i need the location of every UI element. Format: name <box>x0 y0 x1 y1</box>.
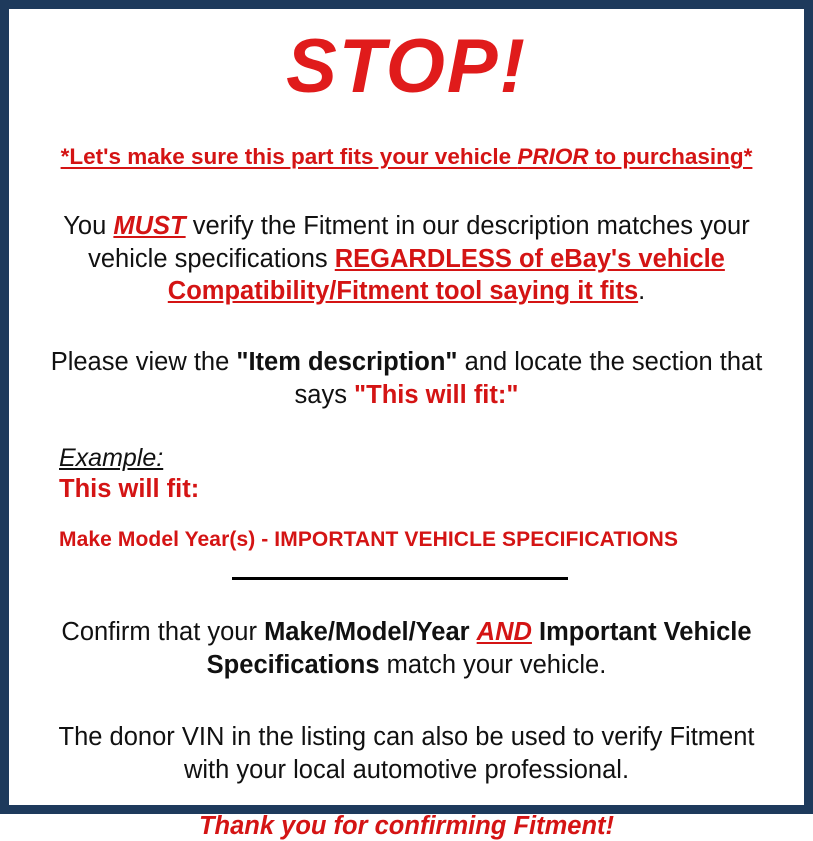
notice-content: STOP! *Let's make sure this part fits yo… <box>9 9 804 805</box>
tagline: *Let's make sure this part fits your veh… <box>18 143 795 170</box>
paragraph-must-verify: You MUST verify the Fitment in our descr… <box>18 210 795 308</box>
tagline-tail: to purchasing* <box>589 144 753 169</box>
example-label-row: Example: <box>59 445 795 473</box>
divider-wrap <box>18 577 795 580</box>
must-part3: . <box>638 277 645 305</box>
confirm-bold-make-model-year: Make/Model/Year <box>264 618 470 646</box>
example-label: Example: <box>59 445 163 473</box>
confirm-part2: match your vehicle. <box>380 651 607 679</box>
example-spec-line: Make Model Year(s) - IMPORTANT VEHICLE S… <box>59 528 795 551</box>
must-emphasis: MUST <box>113 212 185 240</box>
view-red-this-will-fit: "This will fit:" <box>354 381 518 409</box>
tagline-emphasis-prior: PRIOR <box>517 144 588 169</box>
paragraph-donor-vin: The donor VIN in the listing can also be… <box>18 721 795 786</box>
stop-headline: STOP! <box>18 29 795 105</box>
must-part1: You <box>63 212 113 240</box>
view-bold-item-description: "Item description" <box>236 348 457 376</box>
signoff-message: Thank you for confirming Fitment! <box>18 811 795 841</box>
example-block: Example: This will fit: Make Model Year(… <box>18 445 795 551</box>
confirm-part1: Confirm that your <box>61 618 264 646</box>
example-fit-heading: This will fit: <box>59 475 795 504</box>
view-part1: Please view the <box>51 348 237 376</box>
fitment-notice-card: STOP! *Let's make sure this part fits yo… <box>0 0 813 814</box>
section-divider <box>232 577 568 580</box>
confirm-emphasis-and: AND <box>477 618 532 646</box>
paragraph-confirm-match: Confirm that your Make/Model/Year AND Im… <box>18 616 795 681</box>
tagline-lead: *Let's make sure this part fits your veh… <box>61 144 518 169</box>
paragraph-view-description: Please view the "Item description" and l… <box>18 346 795 411</box>
